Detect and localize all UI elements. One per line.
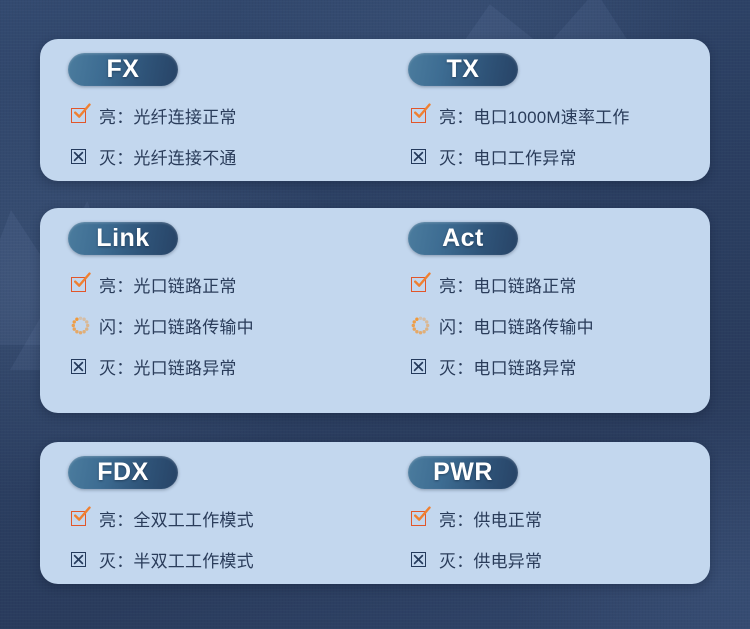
led-state-description: 电口工作异常 bbox=[473, 149, 576, 168]
led-state-row: 亮：光口链路正常 bbox=[68, 268, 400, 300]
led-state-description: 光纤连接不通 bbox=[133, 149, 236, 168]
led-state-row: 灭：光纤连接不通 bbox=[68, 140, 400, 172]
led-state-description: 光口链路正常 bbox=[133, 277, 236, 296]
led-state-text: 闪：光口链路传输中 bbox=[99, 313, 254, 338]
led-state-list: 亮：供电正常灭：供电异常 bbox=[408, 502, 710, 575]
led-state-row: 亮：供电正常 bbox=[408, 502, 710, 534]
led-state-text: 灭：电口链路异常 bbox=[439, 354, 577, 379]
led-state-row: 闪：光口链路传输中 bbox=[68, 309, 400, 341]
checkbox-cross-icon bbox=[411, 355, 437, 377]
card-fx-tx: FX亮：光纤连接正常灭：光纤连接不通TX亮：电口1000M速率工作灭：电口工作异… bbox=[40, 39, 710, 181]
checkbox-checked-icon bbox=[71, 507, 97, 529]
led-state-label: 灭： bbox=[99, 149, 133, 168]
led-state-row: 亮：电口链路正常 bbox=[408, 268, 710, 300]
led-state-label: 灭： bbox=[99, 552, 133, 571]
card-columns: FX亮：光纤连接正常灭：光纤连接不通TX亮：电口1000M速率工作灭：电口工作异… bbox=[40, 53, 710, 172]
led-state-text: 灭：供电异常 bbox=[439, 547, 542, 572]
led-state-description: 电口链路正常 bbox=[473, 277, 576, 296]
led-state-label: 灭： bbox=[99, 359, 133, 378]
led-state-description: 半双工工作模式 bbox=[133, 552, 253, 571]
led-state-description: 光口链路传输中 bbox=[133, 318, 253, 337]
led-state-list: 亮：电口链路正常闪：电口链路传输中灭：电口链路异常 bbox=[408, 268, 710, 382]
led-state-description: 电口链路传输中 bbox=[473, 318, 593, 337]
led-state-label: 灭： bbox=[439, 552, 473, 571]
led-badge-fx: FX bbox=[68, 53, 178, 86]
led-group-tx: TX亮：电口1000M速率工作灭：电口工作异常 bbox=[400, 53, 710, 172]
led-state-label: 灭： bbox=[439, 359, 473, 378]
led-state-description: 电口1000M速率工作 bbox=[473, 108, 629, 127]
led-state-text: 闪：电口链路传输中 bbox=[439, 313, 594, 338]
led-group-fdx: FDX亮：全双工工作模式灭：半双工工作模式 bbox=[40, 456, 400, 575]
card-link-act: Link亮：光口链路正常闪：光口链路传输中灭：光口链路异常Act亮：电口链路正常… bbox=[40, 208, 710, 413]
led-group-fx: FX亮：光纤连接正常灭：光纤连接不通 bbox=[40, 53, 400, 172]
led-state-list: 亮：光纤连接正常灭：光纤连接不通 bbox=[68, 99, 400, 172]
led-state-text: 灭：电口工作异常 bbox=[439, 144, 577, 169]
led-state-text: 亮：供电正常 bbox=[439, 506, 542, 531]
led-state-text: 亮：光纤连接正常 bbox=[99, 103, 237, 128]
led-state-label: 灭： bbox=[439, 149, 473, 168]
led-state-label: 亮： bbox=[99, 511, 133, 530]
led-state-description: 全双工工作模式 bbox=[133, 511, 253, 530]
checkbox-checked-icon bbox=[411, 507, 437, 529]
led-state-list: 亮：电口1000M速率工作灭：电口工作异常 bbox=[408, 99, 710, 172]
led-state-label: 闪： bbox=[99, 318, 133, 337]
led-badge-act: Act bbox=[408, 222, 518, 255]
checkbox-cross-icon bbox=[71, 548, 97, 570]
checkbox-cross-icon bbox=[411, 548, 437, 570]
led-state-description: 供电正常 bbox=[473, 511, 542, 530]
led-state-label: 亮： bbox=[99, 277, 133, 296]
led-state-row: 亮：电口1000M速率工作 bbox=[408, 99, 710, 131]
led-state-row: 闪：电口链路传输中 bbox=[408, 309, 710, 341]
led-state-text: 灭：半双工工作模式 bbox=[99, 547, 254, 572]
led-state-row: 亮：全双工工作模式 bbox=[68, 502, 400, 534]
led-state-list: 亮：光口链路正常闪：光口链路传输中灭：光口链路异常 bbox=[68, 268, 400, 382]
spinner-dots-icon bbox=[411, 314, 437, 336]
checkbox-checked-icon bbox=[71, 273, 97, 295]
led-badge-link: Link bbox=[68, 222, 178, 255]
led-legend-stack: FX亮：光纤连接正常灭：光纤连接不通TX亮：电口1000M速率工作灭：电口工作异… bbox=[0, 0, 750, 584]
checkbox-checked-icon bbox=[411, 273, 437, 295]
led-state-row: 灭：电口链路异常 bbox=[408, 350, 710, 382]
led-state-label: 亮： bbox=[439, 277, 473, 296]
led-group-act: Act亮：电口链路正常闪：电口链路传输中灭：电口链路异常 bbox=[400, 222, 710, 382]
led-state-label: 亮： bbox=[99, 108, 133, 127]
led-state-text: 灭：光纤连接不通 bbox=[99, 144, 237, 169]
led-state-row: 灭：半双工工作模式 bbox=[68, 543, 400, 575]
checkbox-checked-icon bbox=[411, 104, 437, 126]
led-state-text: 亮：电口链路正常 bbox=[439, 272, 577, 297]
led-state-row: 亮：光纤连接正常 bbox=[68, 99, 400, 131]
led-state-list: 亮：全双工工作模式灭：半双工工作模式 bbox=[68, 502, 400, 575]
led-state-text: 亮：光口链路正常 bbox=[99, 272, 237, 297]
led-state-description: 供电异常 bbox=[473, 552, 542, 571]
led-state-label: 亮： bbox=[439, 511, 473, 530]
led-state-row: 灭：供电异常 bbox=[408, 543, 710, 575]
led-state-description: 电口链路异常 bbox=[473, 359, 576, 378]
led-state-text: 灭：光口链路异常 bbox=[99, 354, 237, 379]
spinner-dots-icon bbox=[71, 314, 97, 336]
card-columns: Link亮：光口链路正常闪：光口链路传输中灭：光口链路异常Act亮：电口链路正常… bbox=[40, 222, 710, 382]
led-state-label: 亮： bbox=[439, 108, 473, 127]
led-badge-tx: TX bbox=[408, 53, 518, 86]
led-state-text: 亮：全双工工作模式 bbox=[99, 506, 254, 531]
checkbox-cross-icon bbox=[71, 145, 97, 167]
led-group-link: Link亮：光口链路正常闪：光口链路传输中灭：光口链路异常 bbox=[40, 222, 400, 382]
led-state-description: 光口链路异常 bbox=[133, 359, 236, 378]
led-state-label: 闪： bbox=[439, 318, 473, 337]
checkbox-cross-icon bbox=[71, 355, 97, 377]
led-group-pwr: PWR亮：供电正常灭：供电异常 bbox=[400, 456, 710, 575]
led-state-row: 灭：光口链路异常 bbox=[68, 350, 400, 382]
checkbox-cross-icon bbox=[411, 145, 437, 167]
card-fdx-pwr: FDX亮：全双工工作模式灭：半双工工作模式PWR亮：供电正常灭：供电异常 bbox=[40, 442, 710, 584]
led-badge-fdx: FDX bbox=[68, 456, 178, 489]
led-state-description: 光纤连接正常 bbox=[133, 108, 236, 127]
led-badge-pwr: PWR bbox=[408, 456, 518, 489]
card-columns: FDX亮：全双工工作模式灭：半双工工作模式PWR亮：供电正常灭：供电异常 bbox=[40, 456, 710, 575]
led-state-text: 亮：电口1000M速率工作 bbox=[439, 103, 630, 128]
checkbox-checked-icon bbox=[71, 104, 97, 126]
led-state-row: 灭：电口工作异常 bbox=[408, 140, 710, 172]
